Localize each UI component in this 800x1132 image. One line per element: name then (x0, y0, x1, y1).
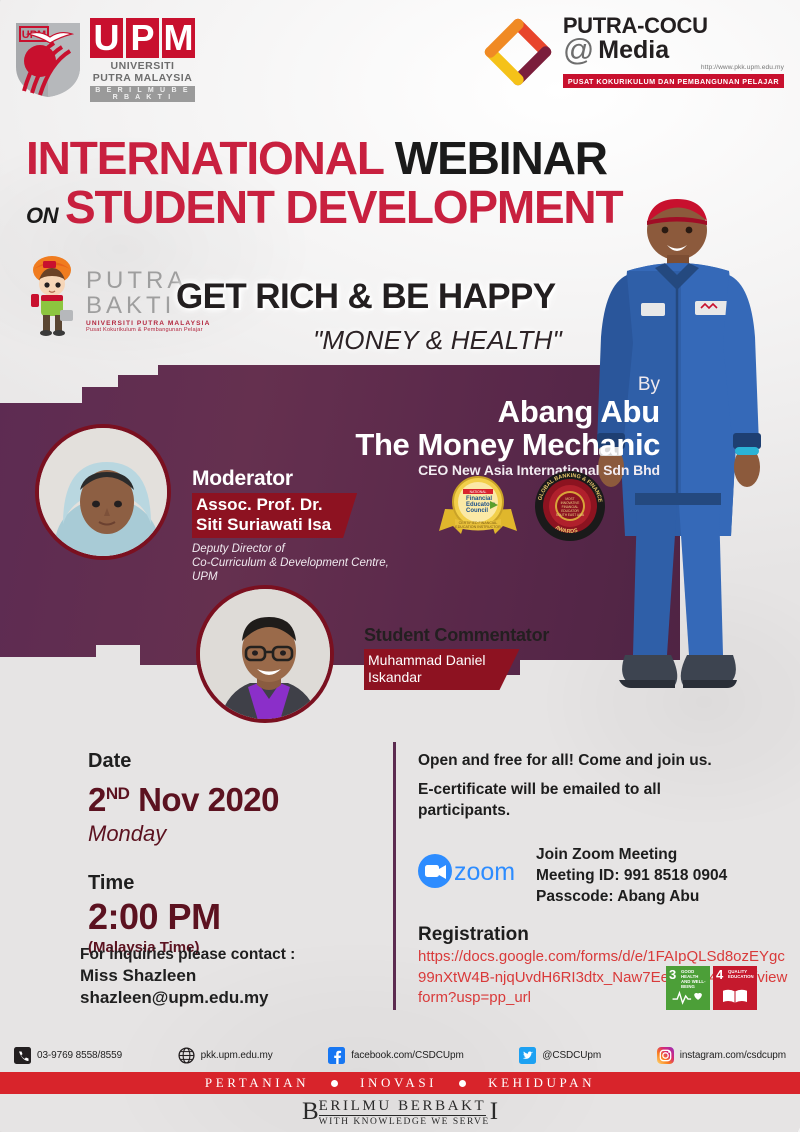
event-headline: GET RICH & BE HAPPY (176, 277, 555, 317)
upm-tagline: B E R I L M U B E R B A K T I (90, 86, 195, 102)
cocu-url[interactable]: http://www.pkk.upm.edu.my (563, 64, 784, 71)
title-line-1: INTERNATIONAL WEBINAR (26, 134, 622, 182)
globe-icon (178, 1047, 195, 1064)
band-word-inovasi: INOVASI (360, 1075, 437, 1091)
moderator-info: Moderator Assoc. Prof. Dr. Siti Suriawat… (192, 466, 389, 584)
commentator-name-line-2: Iskandar (368, 669, 486, 686)
upm-letter-u: U (90, 18, 123, 58)
zoom-logo-icon: zoom (418, 854, 526, 888)
date-label: Date (88, 748, 279, 774)
motto-bottom-line: WITH KNOWLEDGE WE SERVE (319, 1116, 490, 1128)
commentator-label: Student Commentator (364, 624, 549, 646)
commentator-portrait-icon (200, 589, 334, 723)
moderator-label: Moderator (192, 466, 389, 491)
upm-subtitle: UNIVERSITI PUTRA MALAYSIA (90, 60, 195, 84)
motto-middle: ERILMU BERBAKT WITH KNOWLEDGE WE SERVE (319, 1099, 490, 1128)
footer-contact-bar: 03-9769 8558/8559 pkk.upm.edu.my faceboo… (0, 1047, 800, 1064)
title-on: ON (26, 203, 58, 229)
speaker-by-label: By (355, 374, 660, 395)
footer-twitter-text: @CSDCUpm (542, 1050, 601, 1061)
vertical-divider (393, 742, 396, 1010)
putra-cocu-media-logo: PUTRA-COCU @ Media http://www.pkk.upm.ed… (480, 14, 784, 90)
webinar-poster: UPM U P M UNIVERSITI PUTRA MALAYSIA B E … (0, 0, 800, 1132)
event-datetime: Date 2ND Nov 2020 Monday Time 2:00 PM (M… (88, 748, 279, 958)
open-book-icon (720, 986, 750, 1006)
award-badges: NATIONAL Financial Educators Council CER… (437, 470, 609, 542)
speaker-info: By Abang Abu The Money Mechanic CEO New … (355, 374, 660, 479)
motto-final-i: I (490, 1099, 498, 1124)
moderator-name-line-2: Siti Suriawati Isa (196, 515, 331, 535)
zoom-meeting-block: zoom Join Zoom Meeting Meeting ID: 991 8… (418, 844, 790, 907)
sdg-badge-4: 4 QUALITY EDUCATION (713, 966, 757, 1010)
band-dot-2 (459, 1080, 466, 1087)
svg-text:EDUCATION INSTRUCTOR: EDUCATION INSTRUCTOR (455, 525, 501, 529)
svg-text:NATIONAL: NATIONAL (470, 490, 487, 494)
footer-website-text: pkk.upm.edu.my (201, 1050, 273, 1061)
sdg-4-number: 4 (716, 968, 723, 981)
svg-text:Council: Council (466, 508, 488, 514)
title-student-development: STUDENT DEVELOPMENT (65, 183, 622, 231)
footer-contact-twitter[interactable]: @CSDCUpm (519, 1047, 601, 1064)
footer-facebook-text: facebook.com/CSDCUpm (351, 1050, 463, 1061)
upm-letters: U P M (90, 18, 195, 58)
bakti-subtitle-2: Pusat Kokurikulum & Pembangunan Pelajar (86, 327, 210, 333)
at-symbol-icon: @ (563, 36, 594, 64)
svg-text:zoom: zoom (454, 858, 515, 886)
sdg-3-line-1: GOOD HEALTH (681, 969, 710, 979)
sdg-badges: 3 GOOD HEALTH AND WELL-BEING 4 QUALITY E… (666, 966, 757, 1010)
registration-label: Registration (418, 923, 790, 947)
twitter-icon (519, 1047, 536, 1064)
cocu-band-label: PUSAT KOKURIKULUM DAN PEMBANGUNAN PELAJA… (563, 74, 784, 88)
footer-contact-facebook[interactable]: facebook.com/CSDCUpm (328, 1047, 463, 1064)
commentator-avatar (196, 585, 334, 723)
zoom-join-title: Join Zoom Meeting (536, 844, 727, 865)
cocu-line1: PUTRA-COCU (563, 14, 784, 37)
cocu-diamond-icon (480, 14, 556, 90)
open-free-line: Open and free for all! Come and join us. (418, 750, 790, 772)
date-ordinal: ND (106, 784, 130, 803)
upm-wordmark: U P M UNIVERSITI PUTRA MALAYSIA B E R I … (90, 18, 195, 102)
moderator-description: Deputy Director of Co-Curriculum & Devel… (192, 542, 389, 584)
upm-letter-p: P (126, 18, 159, 58)
footer-instagram-text: instagram.com/csdcupm (680, 1050, 786, 1061)
zoom-meeting-id: Meeting ID: 991 8518 0904 (536, 865, 727, 886)
cocu-line2-row: @ Media (563, 36, 784, 64)
sdg-4-line-2: EDUCATION (728, 974, 754, 979)
event-day: Monday (88, 820, 279, 848)
title-international: INTERNATIONAL (26, 132, 383, 184)
sdg-badge-3: 3 GOOD HEALTH AND WELL-BEING (666, 966, 710, 1010)
cocu-wordmark: PUTRA-COCU @ Media http://www.pkk.upm.ed… (563, 14, 784, 88)
page-title: INTERNATIONAL WEBINAR ON STUDENT DEVELOP… (26, 134, 622, 231)
footer-phone-text: 03-9769 8558/8559 (37, 1050, 122, 1061)
phone-icon (14, 1047, 31, 1064)
zoom-passcode: Passcode: Abang Abu (536, 886, 727, 907)
heartbeat-icon (671, 986, 705, 1006)
bakti-subtitle-1: UNIVERSITI PUTRA MALAYSIA (86, 320, 210, 327)
upm-crest-icon: UPM (14, 21, 82, 99)
facebook-icon (328, 1047, 345, 1064)
date-number: 2 (88, 781, 106, 818)
inquiry-person: Miss Shazleen (80, 965, 295, 987)
upm-letter-m: M (162, 18, 195, 58)
moderator-name-line-1: Assoc. Prof. Dr. (196, 495, 331, 515)
financial-educators-council-seal-icon: NATIONAL Financial Educators Council CER… (437, 475, 519, 537)
sdg-4-text: QUALITY EDUCATION (728, 969, 754, 979)
bakti-mascot-icon (22, 250, 84, 336)
commentator-name-band: Muhammad Daniel Iskandar (364, 649, 520, 690)
speaker-name: Abang Abu (355, 395, 660, 428)
ecertificate-line-1: E-certificate will be emailed to all (418, 780, 790, 800)
berilmu-berbakti-motto: B ERILMU BERBAKT WITH KNOWLEDGE WE SERVE… (0, 1099, 800, 1128)
commentator-info: Student Commentator Muhammad Daniel Iska… (364, 624, 549, 690)
footer-contact-website[interactable]: pkk.upm.edu.my (178, 1047, 273, 1064)
inquiry-email[interactable]: shazleen@upm.edu.my (80, 987, 295, 1009)
zoom-details: Join Zoom Meeting Meeting ID: 991 8518 0… (536, 844, 727, 907)
band-dot-1 (331, 1080, 338, 1087)
cocu-line2: Media (598, 37, 669, 64)
motto-initial-b: B (302, 1099, 319, 1124)
event-subheadline: "MONEY & HEALTH" (313, 325, 562, 356)
band-word-kehidupan: KEHIDUPAN (488, 1075, 595, 1091)
title-line-2: ON STUDENT DEVELOPMENT (26, 183, 622, 231)
moderator-desc-line-2: Co-Curriculum & Development Centre, (192, 556, 389, 570)
moderator-name-band: Assoc. Prof. Dr. Siti Suriawati Isa (192, 493, 357, 538)
footer-contact-instagram[interactable]: instagram.com/csdcupm (657, 1047, 786, 1064)
inquiry-intro: For inquiries please contact : (80, 944, 295, 965)
ecertificate-line-2: participants. (418, 800, 790, 822)
upm-logo: UPM U P M UNIVERSITI PUTRA MALAYSIA B E … (14, 18, 195, 102)
band-word-pertanian: PERTANIAN (205, 1075, 309, 1091)
inquiry-contact: For inquiries please contact : Miss Shaz… (80, 944, 295, 1009)
date-month-year: Nov 2020 (138, 781, 279, 818)
moderator-desc-line-1: Deputy Director of (192, 542, 389, 556)
event-date: 2ND Nov 2020 (88, 774, 279, 820)
speaker-title: The Money Mechanic (355, 428, 660, 461)
sdg-3-number: 3 (669, 968, 676, 981)
footer-contact-phone[interactable]: 03-9769 8558/8559 (14, 1047, 122, 1064)
event-time: 2:00 PM (88, 896, 279, 938)
motto-top-line: ERILMU BERBAKT (319, 1099, 487, 1116)
moderator-desc-line-3: UPM (192, 570, 389, 584)
footer-red-band: PERTANIAN INOVASI KEHIDUPAN (0, 1072, 800, 1094)
commentator-name-line-1: Muhammad Daniel (368, 652, 486, 669)
motto-lockup: B ERILMU BERBAKT WITH KNOWLEDGE WE SERVE… (302, 1099, 498, 1128)
moderator-avatar (35, 424, 171, 560)
instagram-icon (657, 1047, 674, 1064)
time-label: Time (88, 870, 279, 896)
svg-text:SOUTH EAST ASIA: SOUTH EAST ASIA (556, 513, 585, 517)
global-banking-finance-awards-seal-icon: GLOBAL BANKING & FINANCE AWARDS MOST INN… (531, 470, 609, 542)
